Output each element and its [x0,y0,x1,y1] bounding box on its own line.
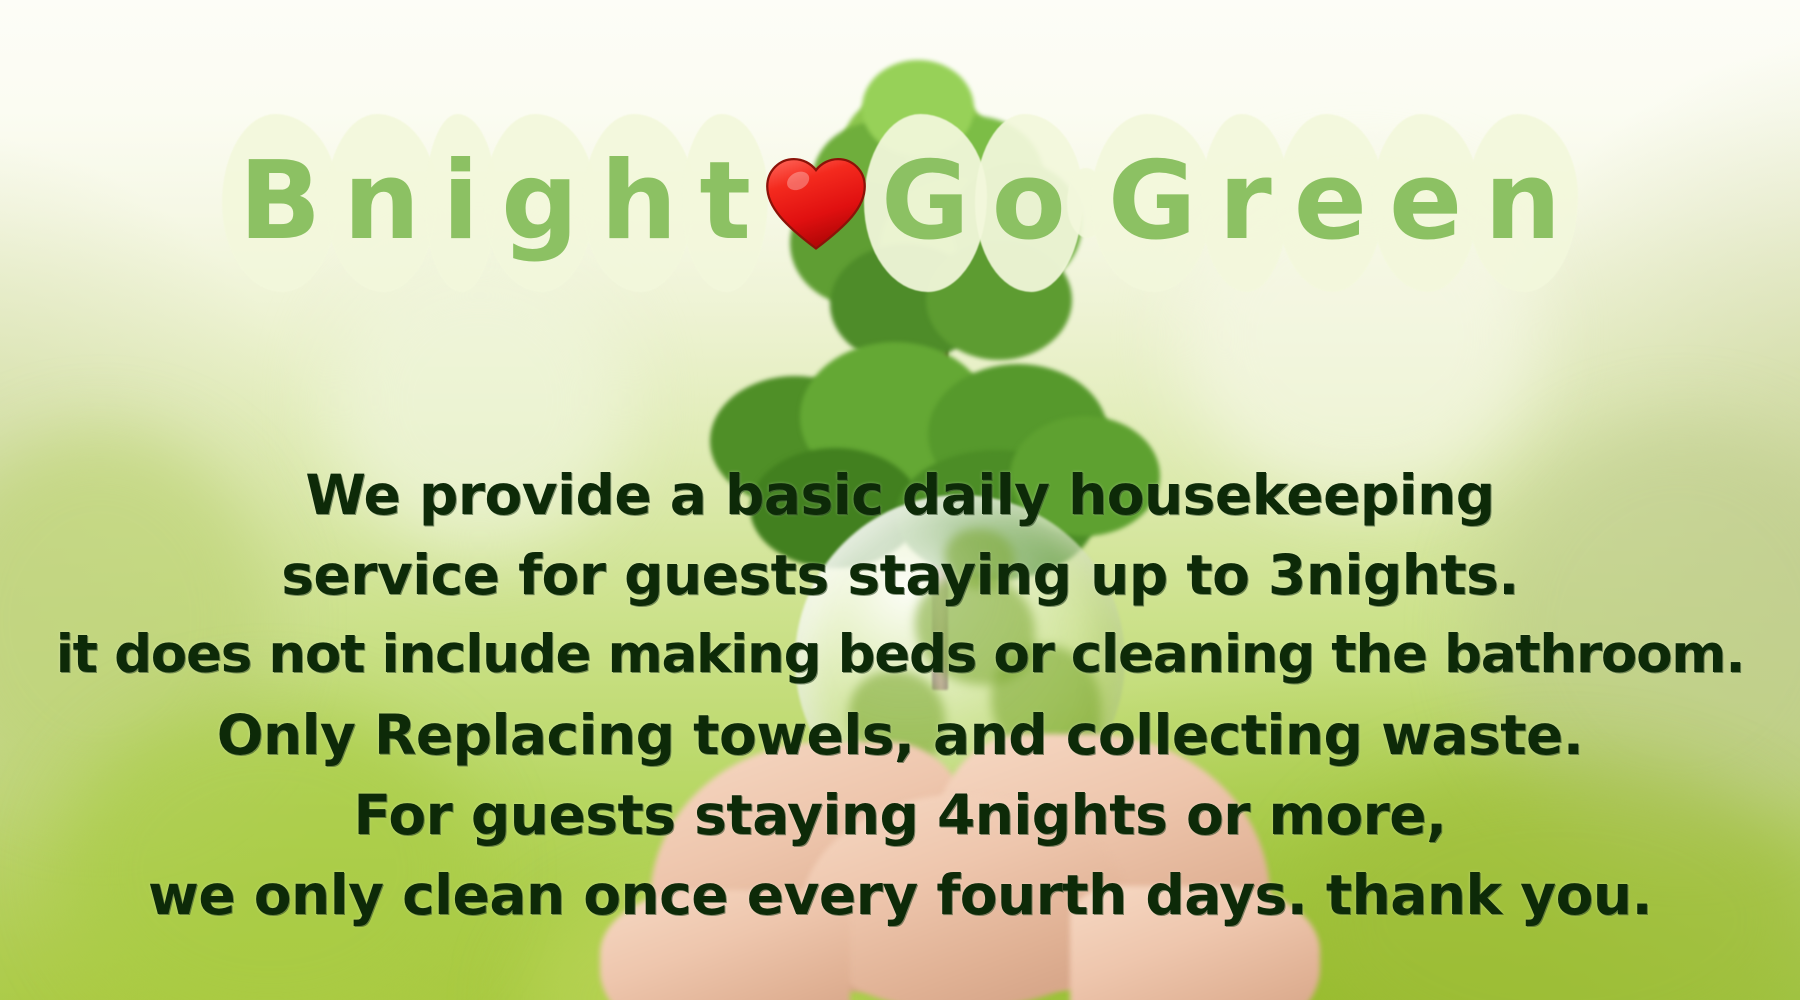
title-letter: r [1207,148,1282,256]
notice-line: For guests staying 4nights or more, [0,775,1800,855]
heart-icon [762,152,870,252]
title-letter: e [1378,148,1473,256]
title-letter: n [332,148,431,256]
title-letter: n [1473,148,1572,256]
title-letter: t [688,148,762,256]
page-title: B n i g h t G o G r [0,128,1800,276]
title-letter: G [870,148,981,256]
title-letter: h [589,148,688,256]
title-letter: G [1097,148,1208,256]
notice-text: We provide a basic daily housekeeping se… [0,455,1800,935]
title-letter: B [228,148,332,256]
poster-canvas: B n i g h t G o G r [0,0,1800,1000]
notice-line: service for guests staying up to 3nights… [0,535,1800,615]
notice-line: We provide a basic daily housekeeping [0,455,1800,535]
notice-line: we only clean once every fourth days. th… [0,855,1800,935]
title-letter: g [490,148,589,256]
notice-line: it does not include making beds or clean… [0,615,1800,695]
title-letter: i [431,148,490,256]
notice-line: Only Replacing towels, and collecting wa… [0,695,1800,775]
title-letter: o [981,148,1077,256]
title-letter: e [1283,148,1378,256]
